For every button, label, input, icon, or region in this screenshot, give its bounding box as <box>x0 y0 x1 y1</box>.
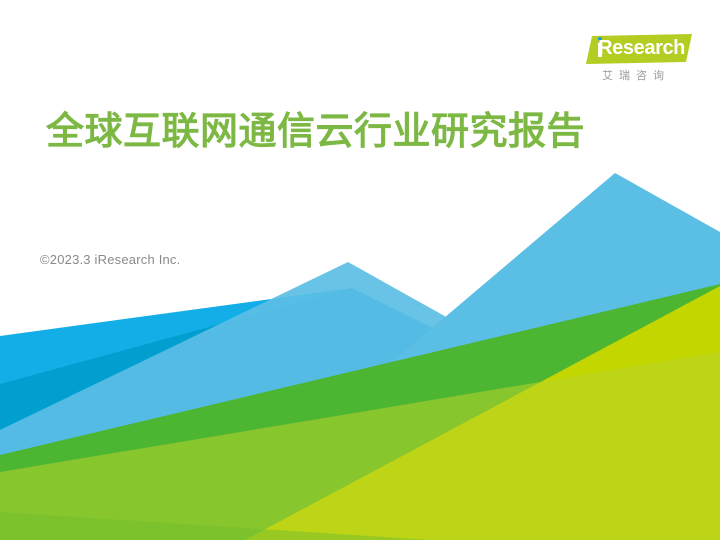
logo-wordmark: Research <box>574 34 692 64</box>
iresearch-logo: Research 艾瑞咨询 <box>574 34 692 86</box>
logo-badge: Research <box>574 34 692 64</box>
title-block: 全球互联网通信云行业研究报告 <box>46 108 606 156</box>
report-cover-slide: Research 艾瑞咨询 全球互联网通信云行业研究报告 ©2023.3 iRe… <box>0 0 720 540</box>
logo-chinese-name: 艾瑞咨询 <box>574 67 692 83</box>
page-title: 全球互联网通信云行业研究报告 <box>46 108 606 156</box>
copyright-notice: ©2023.3 iResearch Inc. <box>40 252 180 267</box>
